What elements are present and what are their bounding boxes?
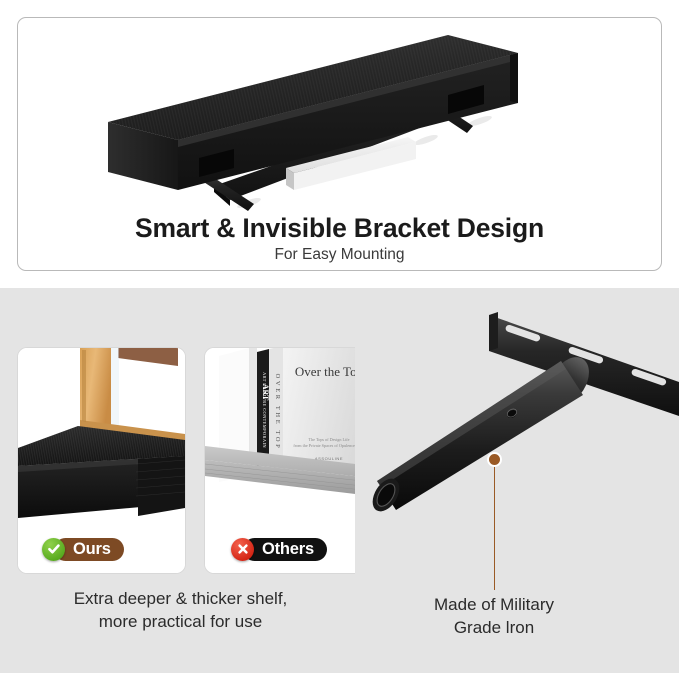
check-circle-icon bbox=[42, 538, 65, 561]
hero-panel: Smart & Invisible Bracket Design For Eas… bbox=[17, 17, 662, 271]
bracket-caption-line1: Made of Military bbox=[379, 594, 609, 617]
hero-subtitle: For Easy Mounting bbox=[18, 246, 661, 264]
svg-text:The Tops of Design Life: The Tops of Design Life bbox=[308, 437, 349, 442]
cross-circle-icon bbox=[231, 538, 254, 561]
comparison-caption-line2: more practical for use bbox=[8, 611, 353, 634]
comparison-card-others: ART DE VIVRE CONTEMPORAIN ART OVER THE T… bbox=[205, 348, 372, 573]
badge-ours: Ours bbox=[42, 537, 124, 561]
comparison-card-ours: Ours bbox=[18, 348, 185, 573]
annotation-leader-line bbox=[494, 466, 496, 590]
marketing-image: Smart & Invisible Bracket Design For Eas… bbox=[0, 0, 679, 673]
annotation-dot-icon bbox=[487, 452, 502, 467]
ours-thick-shelf bbox=[18, 426, 185, 518]
bracket-photo bbox=[355, 288, 679, 588]
badge-others-label: Others bbox=[243, 538, 327, 561]
comparison-caption-line1: Extra deeper & thicker shelf, bbox=[8, 588, 353, 611]
hero-title: Smart & Invisible Bracket Design bbox=[18, 213, 661, 244]
svg-text:OVER THE TOP: OVER THE TOP bbox=[274, 374, 281, 451]
hero-product-photo bbox=[18, 18, 662, 218]
bracket-caption-line2: Grade lron bbox=[379, 617, 609, 640]
svg-text:Over the Top: Over the Top bbox=[295, 364, 363, 379]
comparison-caption: Extra deeper & thicker shelf, more pract… bbox=[8, 588, 353, 633]
svg-text:ART: ART bbox=[261, 384, 270, 401]
bracket-caption: Made of Military Grade lron bbox=[379, 594, 609, 639]
shelf-bracket-illustration bbox=[18, 18, 662, 218]
badge-others: Others bbox=[231, 537, 327, 561]
